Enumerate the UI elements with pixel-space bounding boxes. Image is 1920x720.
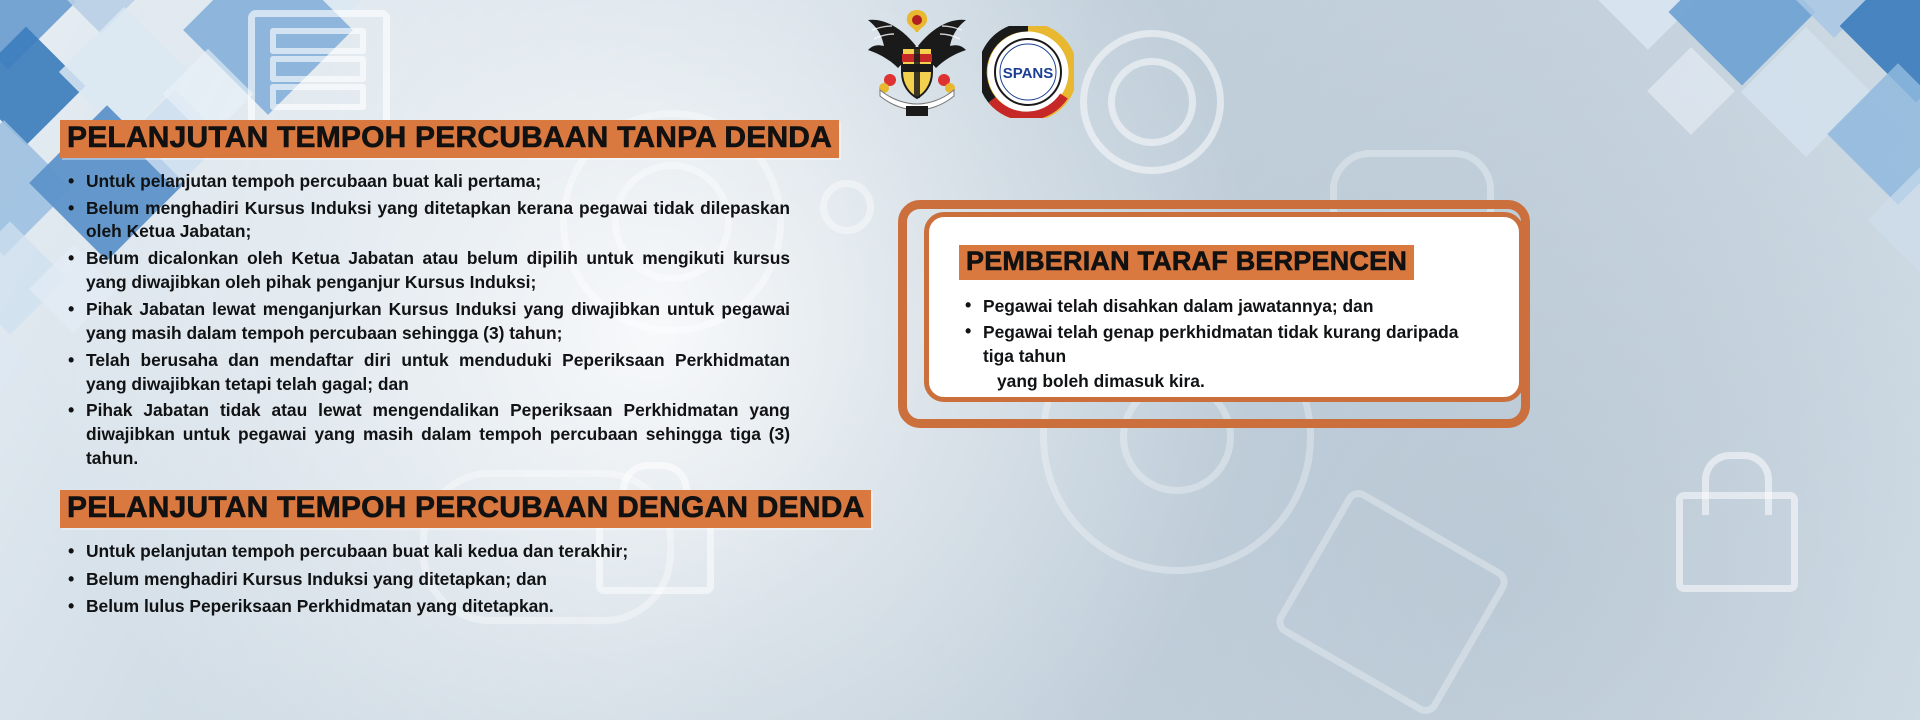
pemberian-taraf-berpencen-card: PEMBERIAN TARAF BERPENCEN Pegawai telah … [924,212,1524,402]
list-item: Untuk pelanjutan tempoh percubaan buat k… [60,170,790,194]
list-item-continuation: yang boleh dimasuk kira. [983,369,1493,393]
banner-canvas: SPANS PELANJUTAN TEMPOH PERCUBAAN TANPA … [0,0,1920,720]
list-item: Belum menghadiri Kursus Induksi yang dit… [60,568,790,592]
sarawak-state-crest-icon [862,6,972,118]
bullet-list-berpencen: Pegawai telah disahkan dalam jawatannya;… [959,294,1493,393]
list-item: Untuk pelanjutan tempoh percubaan buat k… [60,540,790,564]
list-item: Belum dicalonkan oleh Ketua Jabatan atau… [60,247,790,295]
lock-shackle-icon [1702,452,1772,515]
decor-diamond [0,316,30,415]
list-item: Belum lulus Peperiksaan Perkhidmatan yan… [60,595,790,619]
section-heading-tanpa-denda: PELANJUTAN TEMPOH PERCUBAAN TANPA DENDA [60,120,839,158]
server-slot-icon [270,56,366,82]
spans-logo-icon: SPANS [982,26,1074,118]
list-item: Belum menghadiri Kursus Induksi yang dit… [60,197,790,245]
hexagon-network-icon [1271,485,1512,719]
logo-group: SPANS [862,4,1102,119]
list-item: Pihak Jabatan lewat menganjurkan Kursus … [60,298,790,346]
list-item: Pegawai telah disahkan dalam jawatannya;… [959,294,1493,318]
list-item: Pegawai telah genap perkhidmatan tidak k… [959,320,1493,393]
left-content-column: PELANJUTAN TEMPOH PERCUBAAN TANPA DENDA … [60,120,790,623]
list-item: Telah berusaha dan mendaftar diri untuk … [60,349,790,397]
card-heading: PEMBERIAN TARAF BERPENCEN [959,245,1414,280]
wifi-signal-icon [1108,58,1196,146]
svg-text:SPANS: SPANS [1003,65,1054,82]
bullet-list-dengan-denda: Untuk pelanjutan tempoh percubaan buat k… [60,540,790,620]
bullet-list-tanpa-denda: Untuk pelanjutan tempoh percubaan buat k… [60,170,790,471]
section-heading-dengan-denda: PELANJUTAN TEMPOH PERCUBAAN DENGAN DENDA [60,490,871,528]
circuit-node-icon [820,180,874,234]
server-slot-icon [270,28,366,54]
server-slot-icon [270,84,366,110]
right-card-wrapper: PEMBERIAN TARAF BERPENCEN Pegawai telah … [898,200,1538,418]
list-item-text: Pegawai telah genap perkhidmatan tidak k… [983,322,1458,366]
list-item: Pihak Jabatan tidak atau lewat mengendal… [60,399,790,471]
